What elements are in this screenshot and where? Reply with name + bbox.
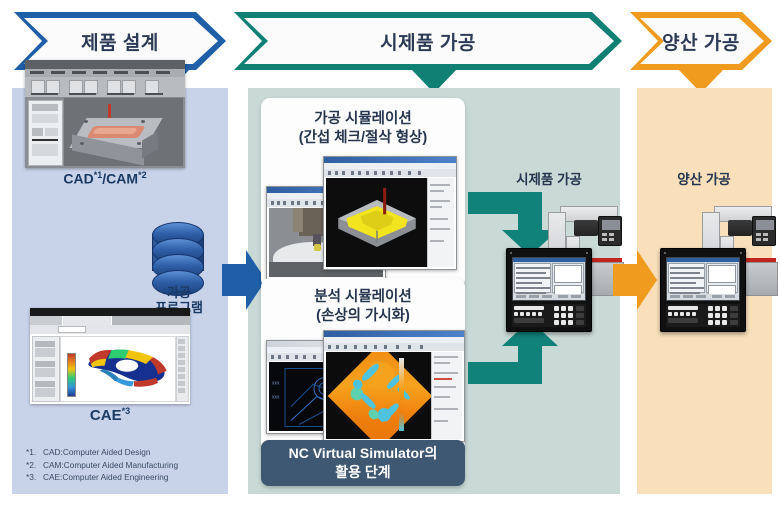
cae-result-viewport [60, 336, 176, 402]
cnc-screen-titlebar-prototype [513, 258, 585, 262]
svg-text:xxx: xxx [272, 395, 280, 401]
cnc-screen-dialog-mass [706, 263, 738, 293]
cad-cam-application-window [25, 60, 185, 168]
cae-application-window [30, 308, 190, 404]
cad-3d-viewport [64, 98, 183, 166]
cnc-controller-prototype[interactable] [506, 248, 592, 332]
footnote-2: *2.CAM:Computer Aided Manufacturing [26, 459, 216, 472]
footnote-1: *1.CAD:Computer Aided Design [26, 446, 216, 459]
stage-banner-prototype-label: 시제품 가공 [234, 12, 622, 70]
footnote-3-num: *3. [26, 471, 43, 484]
cae-caption: CAE*3 [30, 406, 190, 424]
cnc-screen-titlebar-mass [667, 258, 739, 262]
database-icon [152, 222, 204, 284]
cae-label: CAE [90, 407, 122, 424]
cnc-keypad-prototype[interactable] [512, 304, 586, 327]
sim-d-toolbar [324, 343, 464, 351]
footnotes: *1.CAD:Computer Aided Design *2.CAM:Comp… [26, 446, 216, 484]
footnote-3-text: CAE:Computer Aided Engineering [43, 472, 168, 482]
damage-heatmap-window [323, 330, 465, 442]
cnc-screen-mass[interactable] [666, 257, 740, 301]
cnc-screen-list-mass [668, 263, 705, 293]
cam-label: /CAM [102, 171, 138, 187]
stage-banner-mass: 양산 가공 [630, 12, 772, 70]
cae-toolbar [30, 325, 190, 334]
analysis-sim-title-line2: (손상의 가시화) [261, 307, 465, 326]
cut-shape-3d-model [326, 178, 428, 267]
cad-label: CAD [63, 171, 93, 187]
machining-sim-title-line1: 가공 시뮬레이션 [261, 110, 465, 129]
analysis-sim-title-line1: 분석 시뮬레이션 [261, 288, 465, 307]
cnc-screen-dialog-prototype [552, 263, 584, 293]
stage-banner-prototype: 시제품 가공 [234, 12, 622, 70]
machining-sim-title-line2: (간섭 체크/절삭 형상) [261, 129, 465, 148]
footnote-1-num: *1. [26, 446, 43, 459]
cnc-controller-top-strip-mass [664, 251, 742, 255]
nc-badge-line2: 활용 단계 [289, 463, 438, 482]
sim-b-toolbar [324, 169, 456, 177]
cnc-controller-mass[interactable] [660, 248, 746, 332]
card-analysis-simulation-title: 분석 시뮬레이션 (손상의 가시화) [261, 288, 465, 326]
arrow-prototype-to-mass [613, 248, 657, 312]
cad-toolbar [25, 77, 185, 97]
machining-program-line1: 가공 [146, 285, 212, 300]
stage-banner-mass-label: 양산 가공 [630, 12, 772, 70]
mass-production-label: 양산 가공 [645, 168, 763, 188]
sim-b-viewport [326, 178, 428, 267]
cad-cam-caption: CAD*1/CAM*2 [20, 170, 190, 187]
cam-superscript: *2 [138, 170, 147, 180]
prototype-machining-label: 시제품 가공 [490, 168, 608, 188]
cnc-softkeys-prototype[interactable] [514, 294, 584, 299]
cad-superscript: *1 [94, 170, 103, 180]
cae-color-legend [67, 353, 76, 397]
cnc-screen-prototype[interactable] [512, 257, 586, 301]
sim-d-side-panel [431, 352, 462, 439]
sim-b-side-panel [427, 178, 454, 267]
cae-scrollbar[interactable] [176, 336, 189, 402]
cnc-keypad-mass[interactable] [666, 304, 740, 327]
footnote-1-text: CAD:Computer Aided Design [43, 447, 150, 457]
svg-text:xxx: xxx [272, 381, 280, 387]
cnc-controller-top-strip-prototype [510, 251, 588, 255]
cnc-screen-list-prototype [514, 263, 551, 293]
cad-menubar [25, 69, 185, 77]
cnc-softkeys-mass[interactable] [668, 294, 738, 299]
diagram-canvas: 제품 설계 시제품 가공 양산 가공 [0, 0, 780, 508]
sim-d-viewport [326, 352, 434, 439]
cae-titlebar [30, 308, 190, 316]
cae-model-tree [32, 336, 60, 402]
cad-side-panel [28, 100, 63, 166]
nc-badge-line1: NC Virtual Simulator의 [289, 444, 438, 463]
cut-shape-simulation-window [323, 156, 457, 270]
fea-bracket-model [77, 341, 177, 399]
footnote-2-num: *2. [26, 459, 43, 472]
cae-superscript: *3 [122, 406, 131, 416]
footnote-2-text: CAM:Computer Aided Manufacturing [43, 460, 178, 470]
nc-virtual-simulator-badge: NC Virtual Simulator의 활용 단계 [261, 440, 465, 486]
cad-titlebar [25, 60, 185, 69]
damage-heatmap-surface [328, 352, 433, 439]
arrow-design-to-prototype [222, 248, 266, 312]
card-machining-simulation-title: 가공 시뮬레이션 (간섭 체크/절삭 형상) [261, 110, 465, 148]
footnote-3: *3.CAE:Computer Aided Engineering [26, 471, 216, 484]
heatmap-color-scale [399, 358, 404, 431]
